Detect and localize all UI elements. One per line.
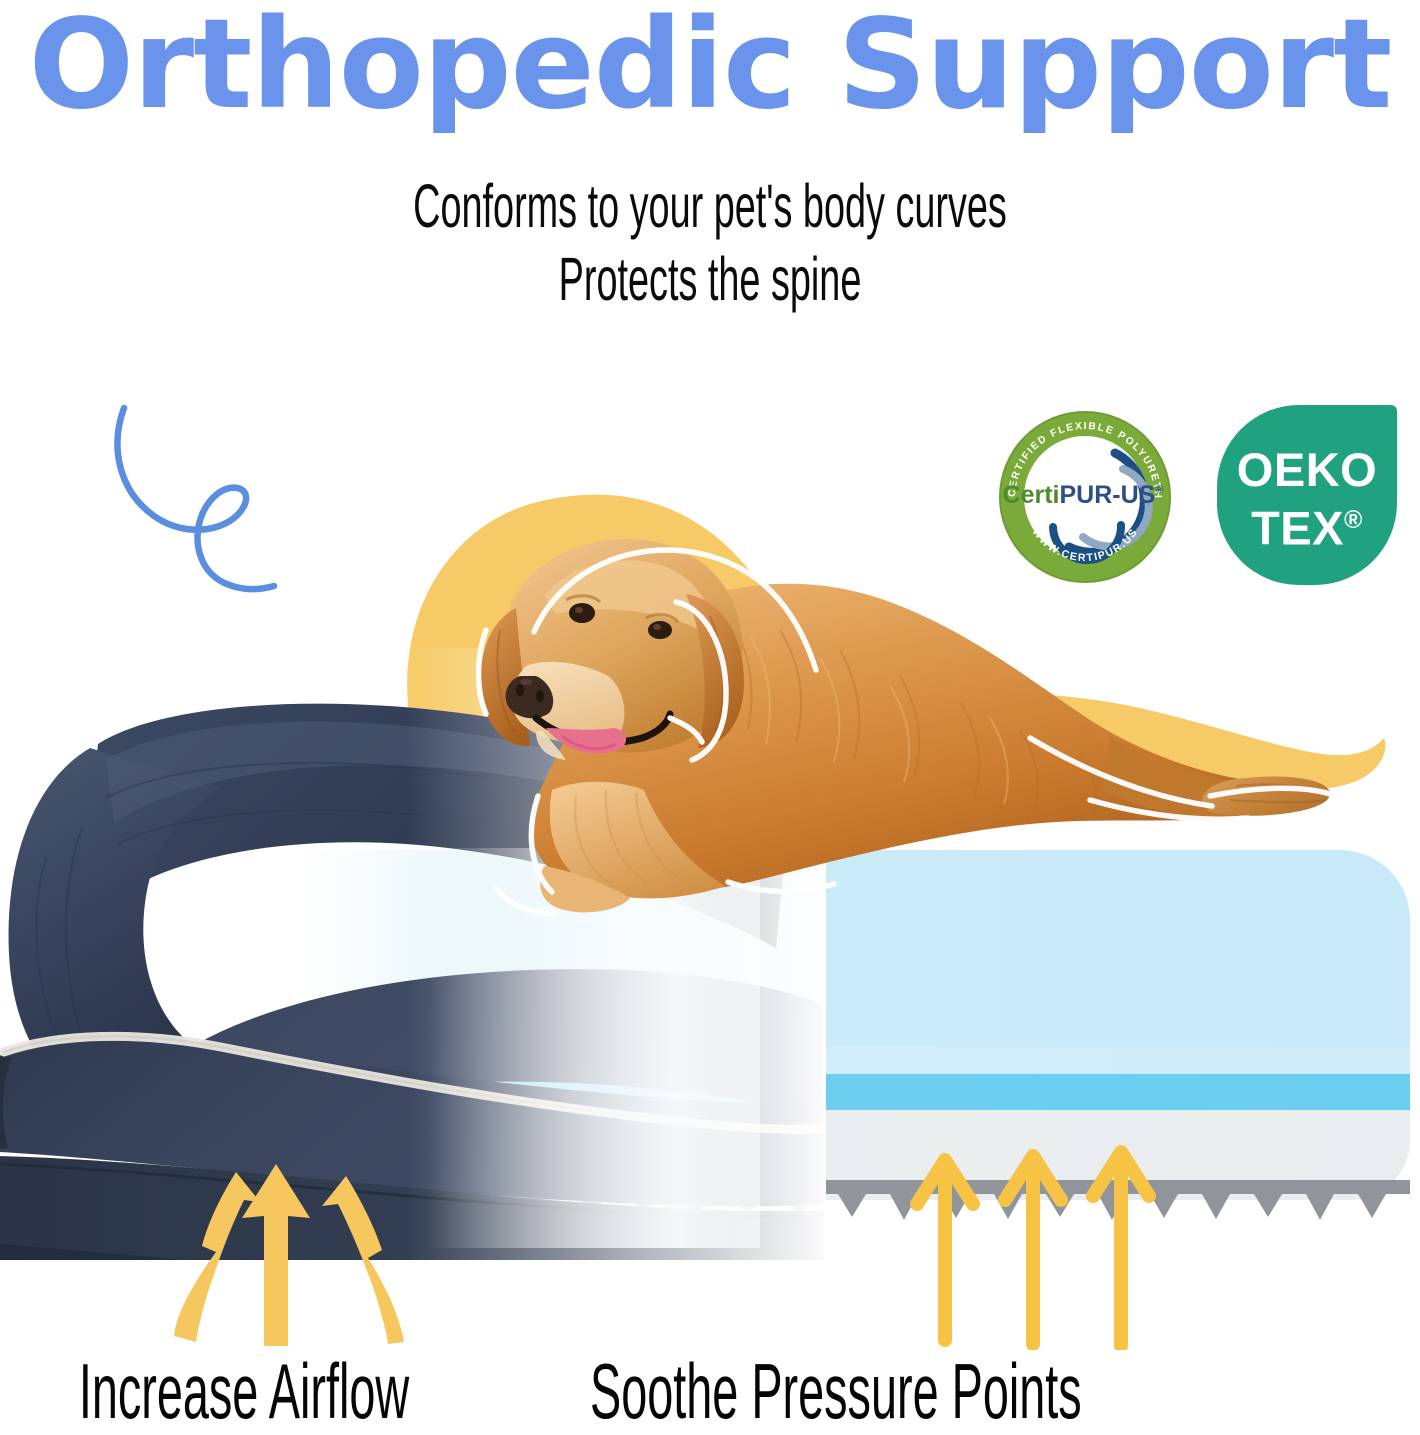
subtitle-line-2: Protects the spine — [270, 243, 1150, 316]
page-title: Orthopedic Support — [0, 0, 1420, 135]
airflow-arrows — [160, 1150, 430, 1350]
subtitle-line-1: Conforms to your pet's body curves — [270, 170, 1150, 243]
feature-captions: Increase Airflow Soothe Pressure Points — [0, 1352, 1420, 1426]
dog-contour-highlight-strokes — [330, 480, 1340, 1040]
caption-soothe-pressure-points: Soothe Pressure Points — [590, 1352, 1298, 1430]
pressure-relief-arrows — [905, 1130, 1165, 1350]
product-illustration — [0, 430, 1420, 1330]
caption-increase-airflow: Increase Airflow — [46, 1352, 442, 1430]
subtitle-block: Conforms to your pet's body curves Prote… — [0, 170, 1420, 316]
